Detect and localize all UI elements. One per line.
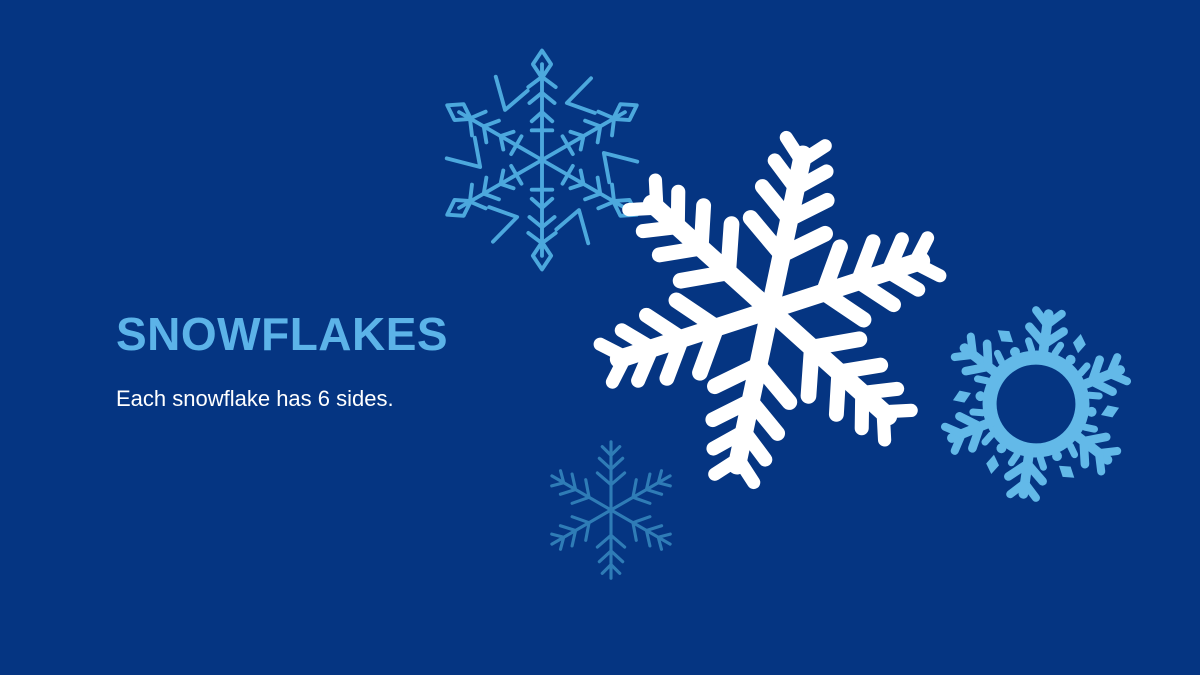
outline-snowflake-icon (428, 46, 656, 274)
page-title: SNOWFLAKES (116, 310, 536, 360)
main-snowflake-icon (588, 128, 952, 492)
slide-canvas: SNOWFLAKES Each snowflake has 6 sides. (0, 0, 1200, 675)
small-snowflake-icon (533, 432, 689, 588)
text-block: SNOWFLAKES Each snowflake has 6 sides. (116, 310, 536, 412)
ring-snowflake-icon (928, 296, 1144, 512)
subtitle-text: Each snowflake has 6 sides. (116, 360, 536, 412)
